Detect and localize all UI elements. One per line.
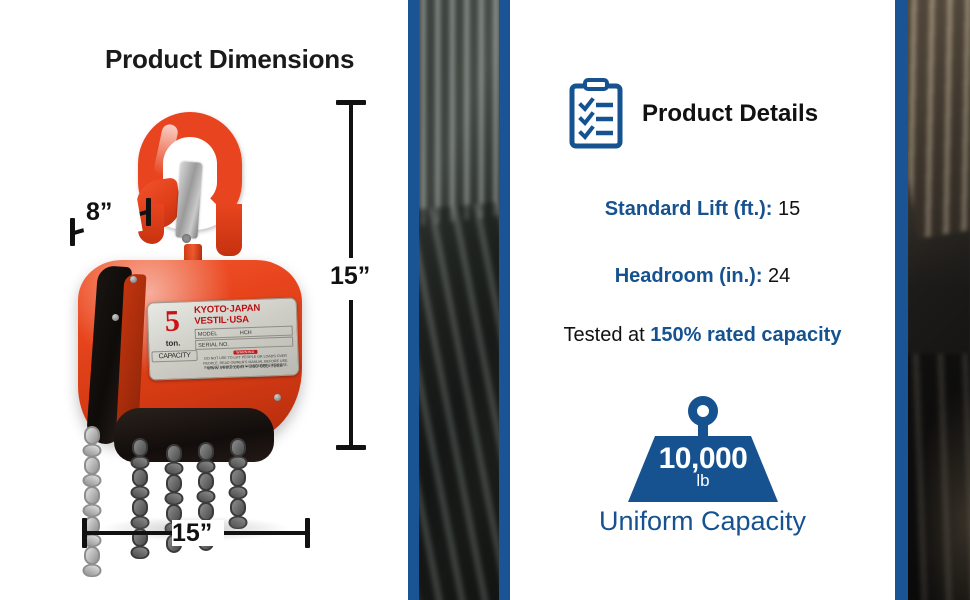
spec-headroom: Headroom (in.): 24: [510, 265, 895, 288]
page-title: Product Dimensions: [105, 44, 354, 75]
spec-headroom-value: 24: [768, 265, 790, 287]
weight-stem: [698, 422, 708, 438]
section-title: Product Details: [642, 100, 818, 128]
width-dimension-cap-right: [305, 518, 310, 548]
nameplate-model-value: HCH: [240, 328, 252, 338]
spec-standard-lift-key: Standard Lift (ft.):: [605, 198, 773, 220]
nameplate-brand: KYOTO·JAPAN VESTIL·USA: [194, 303, 295, 327]
height-dimension-cap-bottom: [336, 445, 366, 450]
hoist-hook: [130, 108, 260, 278]
spec-headroom-key: Headroom (in.):: [615, 265, 763, 287]
capacity-unit: lb: [628, 472, 778, 489]
divider-bar-right-edge: [895, 0, 908, 600]
warning-badge: WARNING: [233, 350, 258, 355]
infographic-canvas: Product Dimensions 5 ton. C: [0, 0, 970, 600]
divider-strip-right: [895, 0, 970, 600]
tested-lead-text: Tested at: [564, 324, 651, 346]
divider-bar-right: [499, 0, 510, 600]
nameplate-capacity-word: CAPACITY: [151, 350, 197, 363]
width-dimension-label: 15”: [172, 519, 212, 548]
product-details-panel: Product Details Standard Lift (ft.): 15 …: [510, 0, 895, 600]
spec-tested-capacity: Tested at 150% rated capacity: [510, 324, 895, 347]
clipboard-checklist-icon: [568, 78, 624, 150]
depth-dimension-cap-left: [70, 218, 75, 246]
load-chain: [84, 426, 96, 576]
nameplate-capacity-number: 5: [152, 306, 193, 337]
nameplate-brand-line-2: VESTIL·USA: [194, 313, 294, 327]
capacity-value: 10,000: [628, 444, 778, 474]
nameplate-model-key: MODEL: [198, 331, 218, 338]
hook-pin: [182, 234, 191, 243]
details-header: Product Details: [568, 78, 818, 150]
nameplate-serial-key: SERIAL NO.: [198, 342, 229, 349]
nameplate-serial-row: SERIAL NO.: [195, 337, 293, 350]
hoist-bolt: [130, 276, 137, 283]
divider-bar-left: [408, 0, 419, 600]
height-dimension-label: 15”: [330, 262, 370, 291]
product-nameplate: 5 ton. CAPACITY KYOTO·JAPAN VESTIL·USA M…: [147, 297, 300, 380]
warehouse-aisle-photo: [419, 0, 499, 600]
depth-dimension-cap-right: [146, 198, 151, 226]
load-chain: [230, 438, 242, 528]
tested-highlight-text: 150% rated capacity: [650, 324, 841, 346]
divider-strip-middle: [408, 0, 510, 600]
chain-hoist-illustration: 5 ton. CAPACITY KYOTO·JAPAN VESTIL·USA M…: [78, 108, 318, 538]
capacity-caption: Uniform Capacity: [510, 506, 895, 537]
depth-dimension-group: 8”: [62, 198, 158, 242]
spec-standard-lift: Standard Lift (ft.): 15: [510, 198, 895, 221]
weight-badge-icon: 10,000 lb: [628, 396, 778, 501]
depth-dimension-label: 8”: [86, 198, 112, 227]
hoist-bolt: [112, 314, 119, 321]
warehouse-shelving-photo: [908, 0, 970, 600]
product-dimensions-panel: Product Dimensions 5 ton. C: [0, 0, 408, 600]
spec-standard-lift-value: 15: [778, 198, 800, 220]
hook-right-leg: [216, 204, 242, 256]
hoist-bolt: [274, 394, 281, 401]
nameplate-capacity-unit: ton.: [151, 338, 195, 349]
